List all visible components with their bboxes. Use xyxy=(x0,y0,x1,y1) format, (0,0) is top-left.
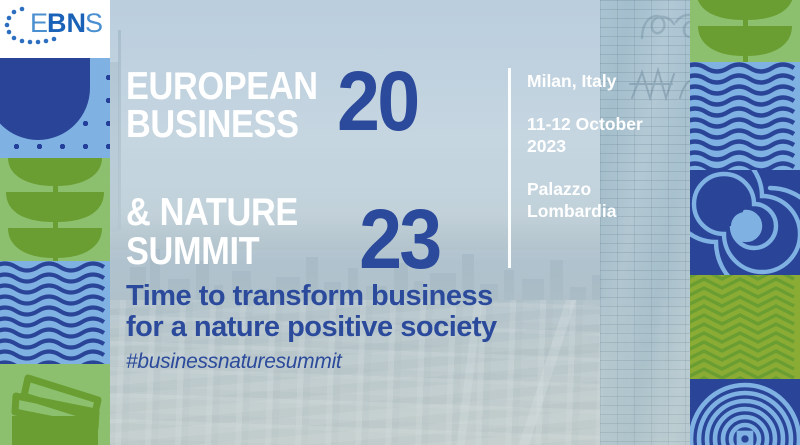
event-tagline: Time to transform business for a nature … xyxy=(126,281,596,342)
tagline-line-2: for a nature positive society xyxy=(126,312,596,343)
venue-place: Palazzo Lombardia xyxy=(527,178,687,222)
poster-content: EUROPEAN BUSINESS & NATURE SUMMIT 20 23 … xyxy=(0,0,800,445)
venue-dates-line-2: 2023 xyxy=(527,135,687,157)
year-second-half: 23 xyxy=(359,200,439,280)
headline-line-4: SUMMIT xyxy=(126,233,328,271)
venue-info: Milan, Italy 11-12 October 2023 Palazzo … xyxy=(527,70,687,222)
event-hashtag: #businessnaturesummit xyxy=(126,350,341,374)
vertical-divider xyxy=(508,68,511,268)
event-poster: E BN S xyxy=(0,0,800,445)
tagline-line-1: Time to transform business xyxy=(126,281,596,312)
event-headline: EUROPEAN BUSINESS & NATURE SUMMIT xyxy=(126,68,328,271)
venue-dates-line-1: 11-12 October xyxy=(527,113,687,135)
venue-dates: 11-12 October 2023 xyxy=(527,113,687,157)
headline-line-1: EUROPEAN xyxy=(126,68,328,106)
headline-line-3: & NATURE xyxy=(126,194,328,232)
venue-place-line-1: Palazzo xyxy=(527,178,687,200)
venue-location: Milan, Italy xyxy=(527,70,687,92)
venue-place-line-2: Lombardia xyxy=(527,200,687,222)
headline-line-2: BUSINESS xyxy=(126,106,328,144)
year-first-half: 20 xyxy=(337,62,440,142)
event-year: 20 23 xyxy=(337,62,440,280)
